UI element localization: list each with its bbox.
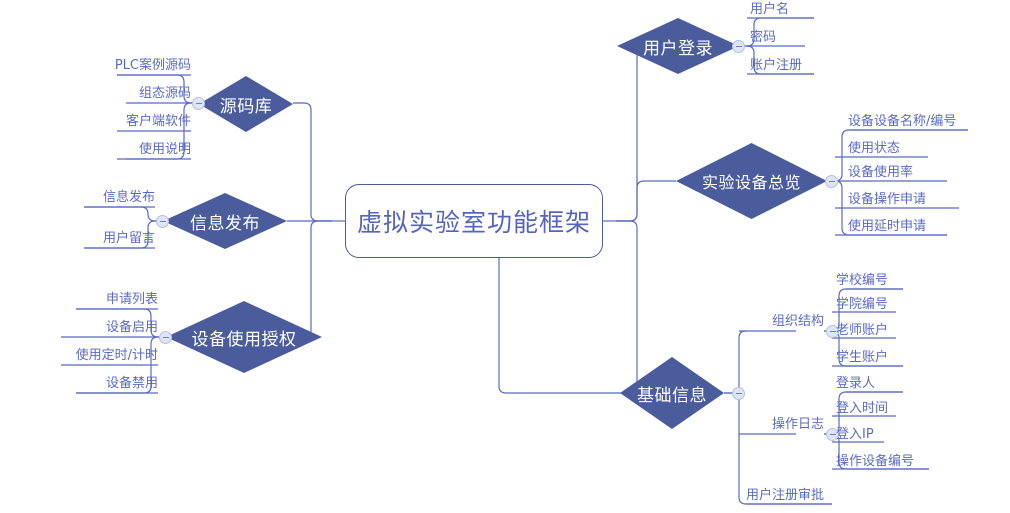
root-node-label: 虚拟实验室功能框架 <box>357 203 591 239</box>
branch-node-label: 基础信息 <box>637 381 707 406</box>
branch-node-user-login[interactable]: 用户登录 <box>617 18 739 74</box>
mindmap-canvas: 虚拟实验室功能框架 源码库 PLC案例源码 组态源码 客户端软件 使用说明 信息… <box>0 0 1010 513</box>
leaf-usage-status[interactable]: 使用状态 <box>848 142 900 155</box>
leaf-account-registration[interactable]: 账户注册 <box>750 59 802 72</box>
leaf-usage-instructions[interactable]: 使用说明 <box>91 143 191 156</box>
leaf-device-utilization[interactable]: 设备使用率 <box>848 166 913 179</box>
leaf-user-registration-approval[interactable]: 用户注册审批 <box>746 489 824 502</box>
leaf-login-ip[interactable]: 登入IP <box>836 428 874 441</box>
leaf-configuration-source-code[interactable]: 组态源码 <box>91 87 191 100</box>
leaf-device-operation-application[interactable]: 设备操作申请 <box>848 193 926 206</box>
leaf-application-list[interactable]: 申请列表 <box>52 293 158 306</box>
branch-node-label: 源码库 <box>220 92 273 117</box>
collapse-toggle-basic-information[interactable] <box>732 387 745 400</box>
leaf-client-software[interactable]: 客户端软件 <box>91 115 191 128</box>
leaf-school-number[interactable]: 学校编号 <box>836 274 888 287</box>
branch-node-source-code-library[interactable]: 源码库 <box>199 76 293 132</box>
leaf-information-release[interactable]: 信息发布 <box>58 191 155 204</box>
collapse-toggle-lab-device-overview[interactable] <box>825 175 838 188</box>
collapse-toggle-device-use-authorization[interactable] <box>159 331 172 344</box>
branch-node-label: 设备使用授权 <box>192 325 297 350</box>
leaf-student-account[interactable]: 学生账户 <box>836 351 888 364</box>
branch-node-label: 实验设备总览 <box>702 169 801 193</box>
leaf-login-time[interactable]: 登入时间 <box>836 402 888 415</box>
leaf-usage-extension-application[interactable]: 使用延时申请 <box>848 220 926 233</box>
leaf-teacher-account[interactable]: 老师账户 <box>836 324 888 337</box>
leaf-plc-case-source-code[interactable]: PLC案例源码 <box>91 59 191 72</box>
leaf-device-disable[interactable]: 设备禁用 <box>52 377 158 390</box>
branch-node-basic-information[interactable]: 基础信息 <box>620 357 724 429</box>
leaf-usage-timer[interactable]: 使用定时/计时 <box>46 349 158 362</box>
leaf-password[interactable]: 密码 <box>750 31 776 44</box>
collapse-toggle-information-release[interactable] <box>156 215 169 228</box>
collapse-toggle-source-code-library[interactable] <box>192 97 205 110</box>
collapse-toggle-user-login[interactable] <box>732 40 745 53</box>
branch-node-lab-device-overview[interactable]: 实验设备总览 <box>676 143 827 219</box>
root-node[interactable]: 虚拟实验室功能框架 <box>345 184 603 258</box>
node-organization-structure[interactable]: 组织结构 <box>744 315 824 328</box>
leaf-college-number[interactable]: 学院编号 <box>836 298 888 311</box>
leaf-user-message[interactable]: 用户留言 <box>58 232 155 245</box>
leaf-operated-device-number[interactable]: 操作设备编号 <box>836 455 914 468</box>
branch-node-label: 用户登录 <box>643 34 713 59</box>
branch-node-device-use-authorization[interactable]: 设备使用授权 <box>166 301 322 373</box>
leaf-device-enable[interactable]: 设备启用 <box>52 321 158 334</box>
branch-node-label: 信息发布 <box>190 209 260 234</box>
node-operation-log[interactable]: 操作日志 <box>744 418 824 431</box>
leaf-login-user[interactable]: 登录人 <box>836 377 875 390</box>
leaf-device-name-number[interactable]: 设备设备名称/编号 <box>848 115 956 128</box>
leaf-username[interactable]: 用户名 <box>750 3 789 16</box>
branch-node-information-release[interactable]: 信息发布 <box>163 193 287 249</box>
